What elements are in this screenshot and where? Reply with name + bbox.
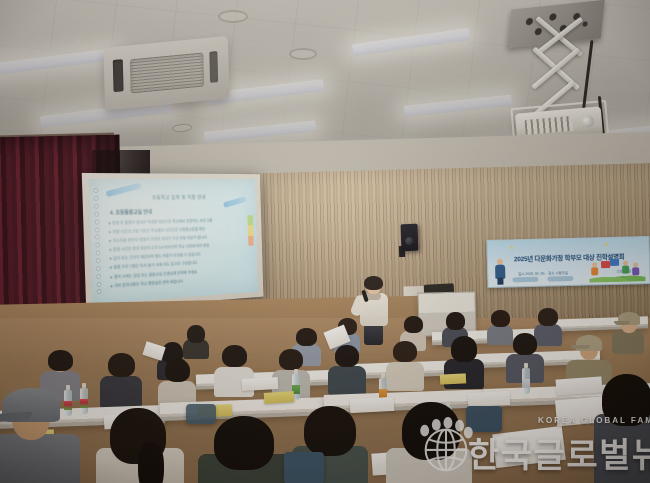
slide-heading: 4. 초등돌봄교실 안내 bbox=[110, 208, 152, 217]
star-icon: ★ bbox=[510, 245, 515, 251]
presentation-slide: 초등학교 입학 및 지원 안내 4. 초등돌봄교실 안내 방과 후 돌봄이 필요… bbox=[89, 179, 259, 304]
person-body bbox=[612, 330, 644, 354]
water-bottle-icon bbox=[80, 388, 88, 414]
audience-member bbox=[183, 327, 209, 357]
photograph: 초등학교 입학 및 지원 안내 4. 초등돌봄교실 안내 방과 후 돌봄이 필요… bbox=[0, 0, 650, 483]
cap-brim bbox=[571, 345, 590, 349]
audience-member bbox=[158, 362, 196, 406]
person-hair bbox=[48, 350, 73, 371]
person-body bbox=[0, 434, 80, 483]
person-hair bbox=[187, 325, 205, 343]
projector-lens bbox=[581, 115, 594, 128]
chair-icon bbox=[466, 406, 502, 432]
document-icon bbox=[468, 391, 511, 407]
person-hair bbox=[404, 316, 423, 333]
audience-member bbox=[386, 344, 424, 388]
person-body bbox=[386, 362, 424, 391]
bottle-label bbox=[522, 379, 530, 388]
bottle-label bbox=[80, 399, 88, 408]
ponytail bbox=[138, 442, 164, 483]
presenter-legs bbox=[364, 324, 383, 345]
audience-member bbox=[198, 424, 292, 483]
person-hair bbox=[222, 345, 247, 367]
person-hair bbox=[393, 341, 417, 362]
slide-bullet-list: 방과 후 돌봄이 필요한 학생을 대상으로 학교에서 운영하는 프로그램 신청 … bbox=[108, 217, 250, 289]
wall-speaker-icon bbox=[401, 224, 419, 252]
audience-member bbox=[96, 414, 184, 483]
slide-color-swatch bbox=[248, 215, 254, 246]
person-hair bbox=[335, 345, 359, 367]
children-illustration-icon bbox=[589, 255, 646, 282]
chair-icon bbox=[186, 404, 216, 424]
person-hair bbox=[214, 416, 274, 470]
person-hair bbox=[491, 310, 510, 327]
audience-member bbox=[0, 392, 80, 483]
audience-member bbox=[386, 410, 472, 483]
person-hair bbox=[451, 336, 477, 362]
chair-icon bbox=[284, 452, 324, 483]
person-hair bbox=[165, 359, 190, 382]
star-icon: ★ bbox=[604, 242, 609, 248]
person-hair bbox=[446, 312, 465, 330]
banner-info-chips bbox=[512, 276, 573, 282]
projector-vents bbox=[524, 116, 573, 135]
person-body bbox=[100, 376, 142, 408]
slide-spiral-binding bbox=[92, 187, 104, 296]
cap-brim bbox=[614, 321, 630, 325]
person-hair bbox=[513, 333, 537, 355]
person-hair bbox=[296, 328, 317, 346]
person-icon bbox=[494, 259, 507, 285]
projection-screen: 초등학교 입학 및 지원 안내 4. 초등돌봄교실 안내 방과 후 돌봄이 필요… bbox=[82, 173, 264, 311]
audience-member bbox=[328, 348, 366, 392]
audience-member bbox=[594, 380, 650, 483]
water-bottle-icon bbox=[522, 368, 530, 394]
audience-member bbox=[100, 356, 142, 404]
booklet-icon bbox=[440, 373, 466, 384]
event-banner: 2025년 다문화가정 학부모 대상 진학설명회 일시 2025. 00. 00… bbox=[486, 236, 650, 288]
presenter-hair bbox=[364, 276, 383, 290]
document-icon bbox=[242, 377, 279, 391]
person-hair bbox=[108, 353, 135, 377]
person-body bbox=[328, 366, 366, 395]
person-hair bbox=[538, 308, 558, 326]
audience-member bbox=[612, 314, 644, 352]
booklet-icon bbox=[264, 391, 295, 404]
person-hair bbox=[279, 349, 303, 370]
person-hair bbox=[402, 402, 460, 460]
person-hair bbox=[602, 374, 650, 426]
slide-title: 초등학교 입학 및 지원 안내 bbox=[119, 194, 236, 202]
audience-member bbox=[272, 352, 310, 396]
presenter bbox=[356, 278, 394, 344]
screen-border: 초등학교 입학 및 지원 안내 4. 초등돌봄교실 안내 방과 후 돌봄이 필요… bbox=[82, 173, 264, 311]
person-hair bbox=[304, 406, 356, 456]
